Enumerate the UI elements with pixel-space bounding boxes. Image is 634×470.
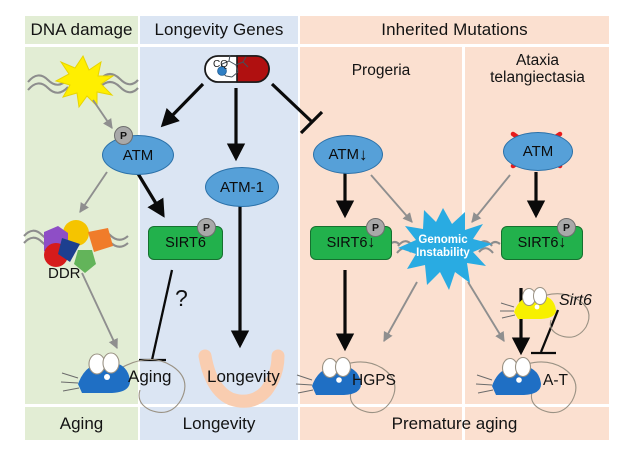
label-hgps-text: HGPS <box>352 372 396 389</box>
phospho-badge-atm: P <box>114 126 133 145</box>
phospho-badge-sirt6-ataxia: P <box>557 218 576 237</box>
phospho-badge-sirt6-longevity: P <box>197 218 216 237</box>
arrow-damage-to-atm <box>93 100 112 128</box>
arrow-genomic-to-hgps <box>384 282 417 341</box>
phospho-badge-sirt6-longevity-label: P <box>203 222 210 234</box>
node-atm-down-progeria[interactable]: ATM ↓ <box>313 135 383 174</box>
phospho-badge-sirt6-progeria-label: P <box>372 222 379 234</box>
genomic-instability-burst-icon: Genomic Instability <box>398 208 492 290</box>
label-worm-longevity-text: Longevity <box>207 367 280 386</box>
node-atm-crossed-ataxia[interactable]: ATM <box>503 132 573 171</box>
label-sirt6-mouse-text: Sirt6 <box>559 292 592 309</box>
node-sirt6-longevity-label: SIRT6 <box>165 235 206 251</box>
node-sirt6-ataxia-label: SIRT6 <box>518 235 559 251</box>
label-at-text: A-T <box>543 372 568 389</box>
node-atm-phospho[interactable]: ATM <box>102 135 174 175</box>
label-hgps: HGPS <box>352 372 396 390</box>
arrow-capsule-to-atm <box>163 84 203 125</box>
label-ddr: DDR <box>48 265 81 282</box>
label-ddr-text: DDR <box>48 265 81 282</box>
capsule-cq-icon: CQ <box>205 55 269 82</box>
node-atm-down-label: ATM <box>328 146 359 163</box>
label-at: A-T <box>543 372 568 390</box>
arrow-ddr-to-aging <box>82 273 117 348</box>
label-worm-longevity: Longevity <box>207 367 280 387</box>
node-atm-1-label: ATM-1 <box>220 179 264 196</box>
phospho-badge-atm-label: P <box>120 130 127 142</box>
node-sirt6-progeria-label: SIRT6 <box>327 235 368 251</box>
figure-canvas: DNA damage Longevity Genes Inherited Mut… <box>0 0 634 470</box>
arrow-sirt6-inhibit-aging <box>139 270 172 360</box>
arrow-atmx-to-genomic <box>472 175 510 222</box>
label-question-mark-text: ? <box>175 285 188 311</box>
genomic-instability-line1: Genomic <box>418 234 468 246</box>
label-aging-mouse-text: Aging <box>128 367 171 386</box>
node-atm-down-arrow: ↓ <box>359 145 368 165</box>
arrow-capsule-inhibit-progeria <box>272 84 322 133</box>
node-atm-1[interactable]: ATM-1 <box>205 167 279 207</box>
node-atm-crossed-label: ATM <box>523 143 554 160</box>
phospho-badge-sirt6-progeria: P <box>366 218 385 237</box>
label-question-mark: ? <box>175 285 188 312</box>
arrow-atm-to-ddr <box>80 172 107 212</box>
node-atm-phospho-label: ATM <box>123 147 154 164</box>
label-aging-mouse: Aging <box>128 367 171 387</box>
arrow-atm-to-sirt6 <box>137 172 163 215</box>
arrow-atmdown-to-genomic <box>371 175 412 222</box>
genomic-instability-line2: Instability <box>416 247 470 259</box>
label-sirt6-mouse: Sirt6 <box>559 292 592 310</box>
phospho-badge-sirt6-ataxia-label: P <box>563 222 570 234</box>
svg-text:CQ: CQ <box>213 59 228 70</box>
arrow-genomic-to-at <box>468 282 504 341</box>
dna-damage-burst-icon <box>56 56 113 107</box>
